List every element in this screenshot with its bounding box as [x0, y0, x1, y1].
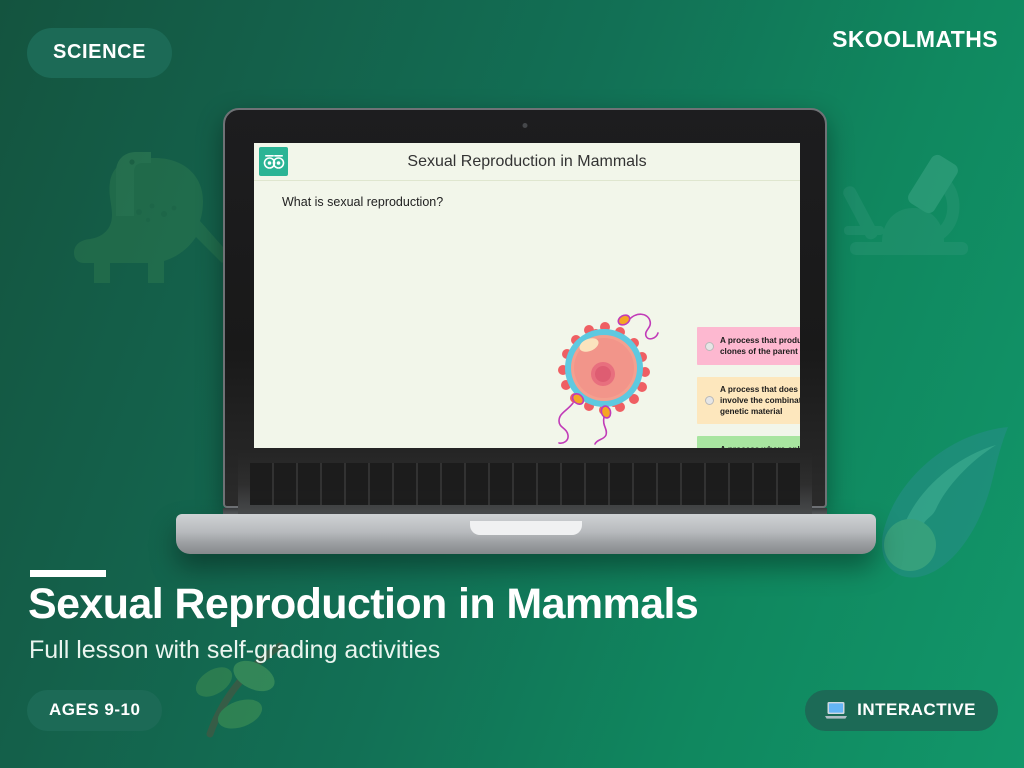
laptop-keyboard	[250, 463, 800, 505]
question-text: What is sexual reproduction?	[282, 195, 800, 209]
lesson-slide: Sexual Reproduction in Mammals What is s…	[254, 143, 800, 461]
answer-option-a-label: A process that produces clones of the pa…	[720, 335, 800, 357]
promo-banner: SCIENCE SKOOLMATHS	[0, 0, 1024, 768]
slide-body: A process that produces clones of the pa…	[254, 209, 800, 461]
slide-title: Sexual Reproduction in Mammals	[254, 153, 800, 171]
answer-option-c-label: A process that does not involve the comb…	[720, 384, 800, 417]
category-badge: SCIENCE	[27, 28, 172, 78]
trackpad-notch	[470, 521, 582, 535]
laptop-icon	[825, 701, 847, 720]
ages-badge: AGES 9-10	[27, 690, 162, 731]
slide-header: Sexual Reproduction in Mammals	[254, 143, 800, 181]
title-rule	[30, 570, 106, 577]
answer-option-c[interactable]: A process that does not involve the comb…	[697, 377, 800, 424]
radio-a[interactable]	[705, 342, 714, 351]
egg-fertilization-illustration	[546, 299, 664, 449]
laptop-mockup: Sexual Reproduction in Mammals What is s…	[176, 108, 876, 558]
lesson-title: Sexual Reproduction in Mammals	[28, 580, 698, 629]
answer-options: A process that produces clones of the pa…	[697, 327, 800, 461]
interactive-badge: INTERACTIVE	[805, 690, 998, 731]
answer-option-a[interactable]: A process that produces clones of the pa…	[697, 327, 800, 365]
lesson-subtitle: Full lesson with self-grading activities	[29, 636, 440, 665]
interactive-badge-label: INTERACTIVE	[857, 700, 976, 720]
radio-c[interactable]	[705, 396, 714, 405]
comet-silhouette-icon	[858, 425, 1024, 600]
brand-wordmark: SKOOLMATHS	[832, 26, 998, 53]
webcam-icon	[523, 123, 528, 128]
